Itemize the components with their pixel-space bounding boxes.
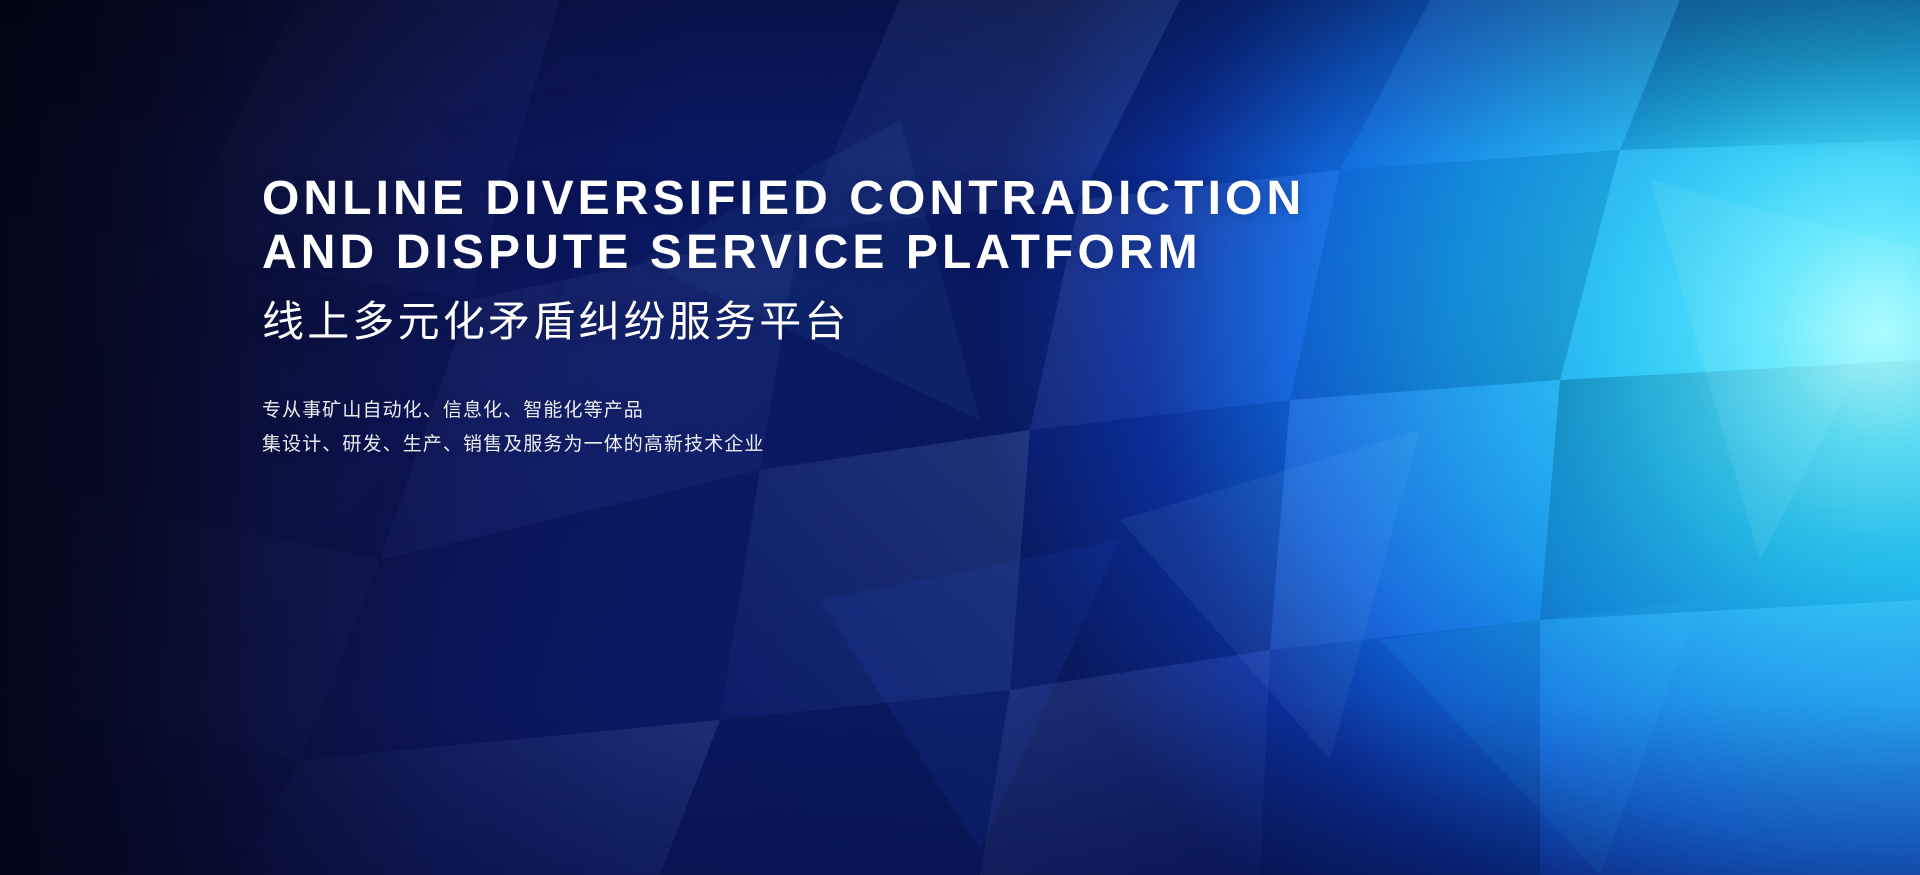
hero-subtitle-line-2: 集设计、研发、生产、销售及服务为一体的高新技术企业: [262, 428, 1462, 462]
hero-subtitle-line-1: 专从事矿山自动化、信息化、智能化等产品: [262, 394, 1462, 428]
hero-title-english: ONLINE DIVERSIFIED CONTRADICTION AND DIS…: [262, 172, 1462, 280]
hero-banner: ONLINE DIVERSIFIED CONTRADICTION AND DIS…: [0, 0, 1920, 875]
hero-title-chinese: 线上多元化矛盾纠纷服务平台: [262, 298, 1462, 346]
hero-text-block: ONLINE DIVERSIFIED CONTRADICTION AND DIS…: [262, 172, 1462, 462]
hero-subtitle-list: 专从事矿山自动化、信息化、智能化等产品 集设计、研发、生产、销售及服务为一体的高…: [262, 394, 1462, 462]
